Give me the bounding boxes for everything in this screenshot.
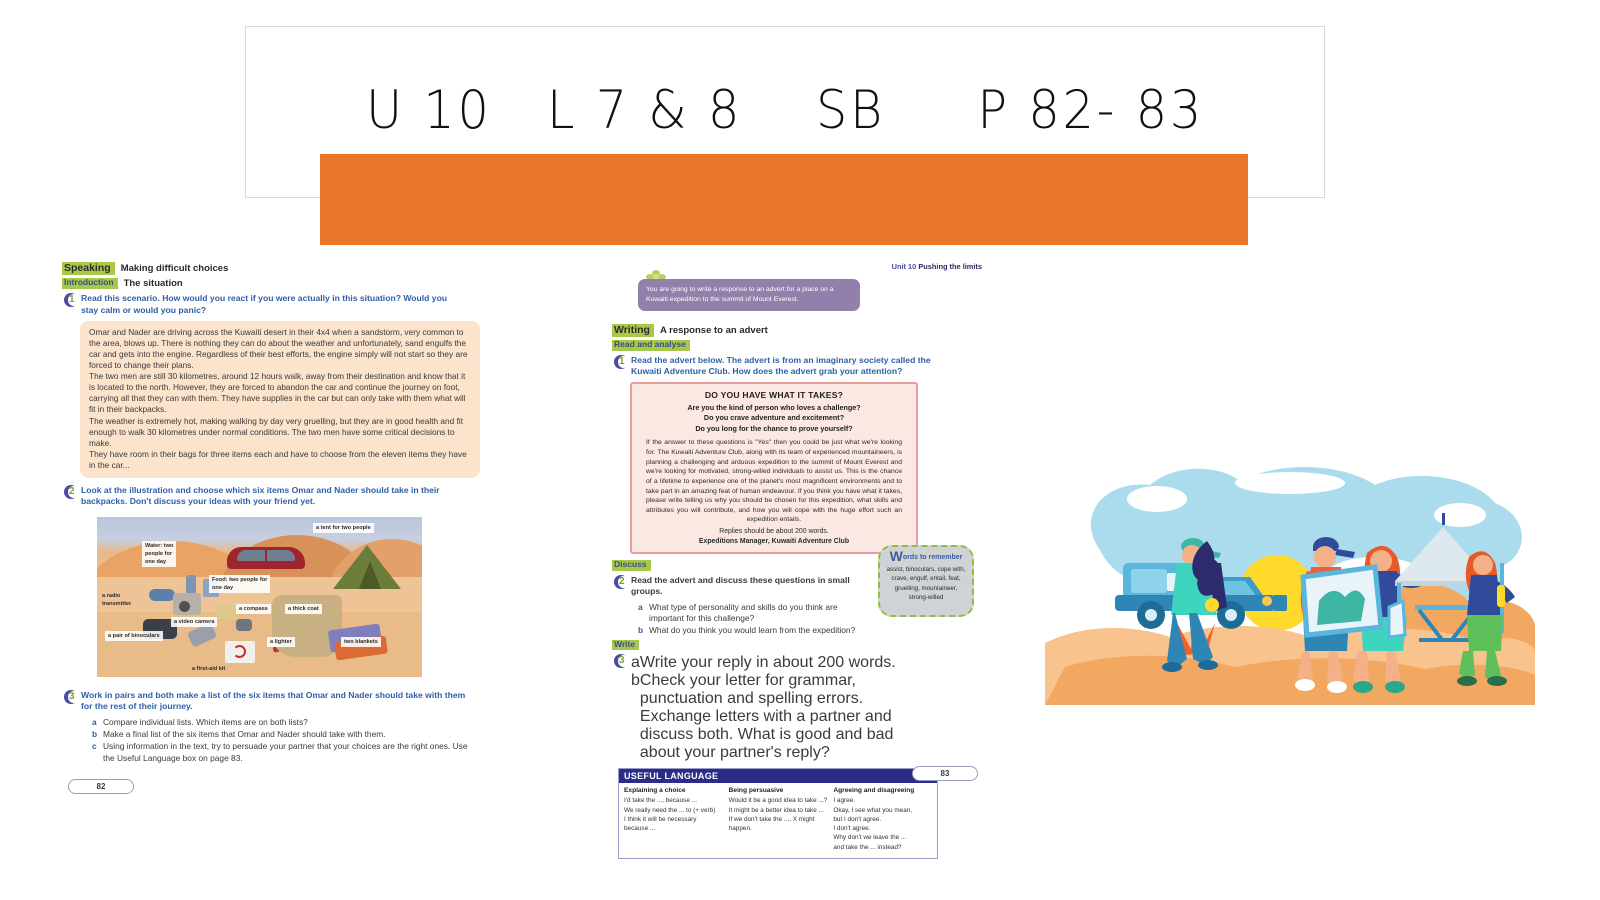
page-number-badge-left: 82: [68, 779, 134, 794]
illus-label-lighter: a lighter: [267, 637, 295, 647]
read-analyse-section-header: Read and analyse: [612, 340, 982, 351]
right-exercise-1-text: Read the advert below. The advert is fro…: [631, 355, 931, 378]
scenario-box: Omar and Nader are driving across the Ku…: [80, 321, 480, 477]
writing-tag: Writing: [612, 324, 654, 337]
illus-label-compass: a compass: [236, 604, 271, 614]
illus-label-radio: a radio transmitter: [99, 591, 134, 609]
bullet-number-icon: 2: [614, 575, 629, 590]
introduction-title: The situation: [124, 278, 183, 289]
list-item-key: b: [638, 625, 649, 635]
introduction-section-header: Introduction The situation: [62, 278, 562, 289]
illus-label-tent: a tent for two people: [313, 523, 374, 533]
bullet-number-icon: 1: [614, 355, 629, 370]
illus-label-binoculars: a pair of binoculars: [105, 631, 163, 641]
scenario-para-1: Omar and Nader are driving across the Ku…: [89, 327, 471, 371]
useful-language-header: USEFUL LANGUAGE: [619, 769, 937, 783]
illus-label-coat: a thick coat: [285, 604, 322, 614]
bullet-number-icon: 3: [64, 690, 79, 705]
slide-canvas: U 10 L 7 & 8 SB P 82- 83 Speaking Making…: [0, 0, 1600, 900]
scenario-para-4: They have room in their bags for three i…: [89, 449, 471, 471]
advert-box: DO YOU HAVE WHAT IT TAKES? Are you the k…: [630, 382, 918, 554]
column-heading: Agreeing and disagreeing: [833, 787, 932, 794]
list-item-key: a: [92, 717, 103, 727]
introduction-tag: Introduction: [62, 278, 118, 289]
words-to-remember-title: Words to remember: [886, 551, 966, 562]
right-exercise-2-text: Read the advert and discuss these questi…: [631, 575, 861, 598]
useful-language-column: Being persuasive Would it be a good idea…: [729, 787, 828, 852]
list-item-text: Using information in the text, try to pe…: [103, 741, 473, 763]
advert-subhead-1: Are you the kind of person who loves a c…: [646, 403, 902, 413]
list-item: b What do you think you would learn from…: [638, 625, 982, 636]
scenario-para-2: The two men are still 30 kilometres, aro…: [89, 371, 471, 415]
writing-title: A response to an advert: [660, 325, 768, 336]
right-exercise-1: 1 Read the advert below. The advert is f…: [614, 355, 982, 378]
illus-label-blankets: two blankets: [341, 637, 381, 647]
list-item-key: b: [631, 672, 640, 762]
column-lines: I agree. Okay, I see what you mean, but …: [833, 796, 932, 852]
discuss-tag: Discuss: [612, 560, 651, 571]
write-section-header: Write: [612, 640, 982, 651]
useful-language-table: USEFUL LANGUAGE Explaining a choice I'd …: [618, 768, 938, 859]
unit-label: Unit 10: [892, 262, 917, 271]
desert-items-illustration: a tent for two people Water: two people …: [97, 517, 422, 677]
list-item: b Check your letter for grammar, punctua…: [631, 672, 896, 762]
list-item-text: Make a final list of the six items that …: [103, 729, 386, 740]
column-lines: Would it be a good idea to take ...? It …: [729, 796, 828, 833]
list-item: a Compare individual lists. Which items …: [92, 717, 562, 728]
desert-camping-illustration: [1045, 455, 1535, 705]
exercise-1-text: Read this scenario. How would you react …: [81, 293, 466, 316]
advert-subhead-3: Do you long for the chance to prove your…: [646, 424, 902, 434]
write-tag: Write: [612, 640, 639, 651]
list-item: b Make a final list of the six items tha…: [92, 729, 562, 740]
exercise-1: 1 Read this scenario. How would you reac…: [64, 293, 562, 316]
advert-body: If the answer to these questions is "Yes…: [646, 438, 902, 525]
list-item-key: a: [638, 602, 649, 612]
advert-subhead-2: Do you crave adventure and excitement?: [646, 413, 902, 423]
list-item-key: c: [92, 741, 103, 751]
list-item: a Write your reply in about 200 words.: [631, 654, 896, 672]
advert-headline: DO YOU HAVE WHAT IT TAKES?: [646, 390, 902, 400]
illus-label-camera: a video camera: [171, 617, 217, 627]
column-lines: I'd take the ..., because ... We really …: [624, 796, 723, 833]
words-initial: W: [890, 548, 903, 564]
exercise-2-text: Look at the illustration and choose whic…: [81, 485, 466, 508]
bullet-number-icon: 1: [64, 293, 79, 308]
exercise-2: 2 Look at the illustration and choose wh…: [64, 485, 562, 508]
exercise-3-text: Work in pairs and both make a list of th…: [81, 690, 469, 713]
unit-title: Pushing the limits: [918, 262, 982, 271]
page-title: U 10 L 7 & 8 SB P 82- 83: [283, 80, 1287, 141]
list-item-text: Compare individual lists. Which items ar…: [103, 717, 308, 728]
orange-accent-bar: [320, 154, 1248, 245]
advert-signature: Expeditions Manager, Kuwaiti Adventure C…: [646, 538, 902, 545]
illus-label-food: Food: two people for one day: [209, 575, 270, 593]
list-item-key: a: [631, 654, 640, 672]
words-to-remember-box: Words to remember assist, binoculars, co…: [878, 545, 974, 617]
list-item-key: b: [92, 729, 103, 739]
list-item-text: Check your letter for grammar, punctuati…: [640, 672, 896, 762]
exercise-3-list: a Compare individual lists. Which items …: [92, 717, 562, 764]
read-analyse-tag: Read and analyse: [612, 340, 690, 351]
scenario-para-3: The weather is extremely hot, making wal…: [89, 416, 471, 449]
bullet-number-icon: 3: [614, 654, 629, 669]
list-item-text: What do you think you would learn from t…: [649, 625, 864, 636]
words-to-remember-list: assist, binoculars, cope with, crave, en…: [886, 565, 966, 602]
list-item: c Using information in the text, try to …: [92, 741, 562, 763]
illus-label-water: Water: two people for one day: [142, 541, 176, 567]
speaking-section-header: Speaking Making difficult choices: [62, 262, 562, 275]
book-page-left: Speaking Making difficult choices Introd…: [62, 262, 562, 807]
unit-header: Unit 10 Pushing the limits: [892, 262, 982, 271]
speaking-title: Making difficult choices: [121, 263, 229, 274]
list-item-text: What type of personality and skills do y…: [649, 602, 864, 624]
exercise-3: 3 Work in pairs and both make a list of …: [64, 690, 562, 713]
book-page-right: Unit 10 Pushing the limits You are going…: [612, 262, 982, 787]
right-exercise-3: 3 a Write your reply in about 200 words.…: [614, 654, 982, 762]
writing-section-header: Writing A response to an advert: [612, 324, 982, 337]
page-number-badge-right: 83: [912, 766, 978, 781]
useful-language-column: Explaining a choice I'd take the ..., be…: [624, 787, 723, 852]
speaking-tag: Speaking: [62, 262, 115, 275]
illus-label-firstaid: a first-aid kit: [189, 664, 228, 674]
objective-box: You are going to write a response to an …: [638, 279, 860, 311]
column-heading: Explaining a choice: [624, 787, 723, 794]
bullet-number-icon: 2: [64, 485, 79, 500]
advert-note: Replies should be about 200 words.: [646, 528, 902, 535]
useful-language-column: Agreeing and disagreeing I agree. Okay, …: [833, 787, 932, 852]
column-heading: Being persuasive: [729, 787, 828, 794]
list-item-text: Write your reply in about 200 words.: [640, 654, 896, 672]
